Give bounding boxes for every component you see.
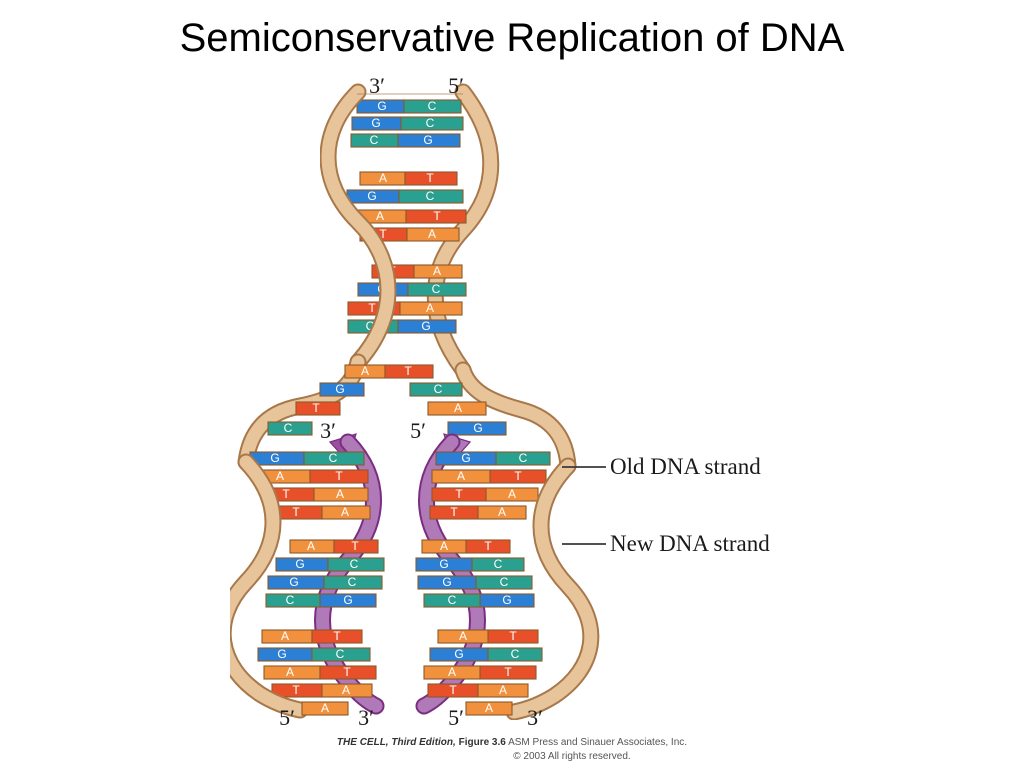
base-pair: AT [432,469,546,483]
base-pair: AT [422,539,510,553]
svg-text:G: G [343,593,352,607]
svg-text:G: G [423,133,432,147]
svg-text:G: G [421,319,430,333]
svg-text:T: T [282,487,290,501]
svg-text:G: G [335,382,344,396]
base-unpaired: C [268,421,312,435]
right-daughter-base-pairs: GC AT TA TA AT GC GC CG AT GC AT TA [416,451,550,697]
svg-text:A: A [321,701,329,715]
right-daughter-helix: GC AT TA TA AT GC GC CG AT GC AT TA [416,442,591,715]
label-left-daughter-5prime: 5′ [279,705,295,730]
svg-text:T: T [504,665,512,679]
svg-text:T: T [333,629,341,643]
svg-text:A: A [440,539,448,553]
svg-text:G: G [270,451,279,465]
svg-text:A: A [485,701,493,715]
base-pair: TA [428,683,528,697]
base-pair: GC [357,99,461,113]
svg-text:T: T [335,469,343,483]
credit-publisher: ASM Press and Sinauer Associates, Inc. [508,737,687,748]
svg-text:G: G [454,647,463,661]
base-pair: GC [276,557,384,571]
svg-text:A: A [376,209,384,223]
legend-leaders [562,467,606,544]
svg-text:T: T [514,469,522,483]
label-left-daughter-3prime: 3′ [358,705,374,730]
base-pair: AT [438,629,538,643]
svg-text:T: T [368,301,376,315]
svg-text:C: C [329,451,338,465]
base-pair: CG [266,593,376,607]
svg-text:A: A [428,227,436,241]
svg-text:C: C [448,593,457,607]
svg-text:C: C [370,133,379,147]
svg-text:C: C [286,593,295,607]
base-pair: TA [348,301,462,315]
dna-diagram-svg: GC GC CG AT GC AT TA TA GC TA CG [0,70,1024,730]
svg-text:A: A [307,539,315,553]
label-fork-right: 5′ [410,418,426,443]
svg-text:C: C [426,189,435,203]
credit-figure: Figure 3.6 [459,737,506,748]
svg-text:A: A [286,665,294,679]
svg-text:A: A [454,401,462,415]
svg-text:G: G [277,647,286,661]
base-pair: GC [352,116,463,130]
base-unpaired: A [428,401,486,415]
base-pair: AT [264,665,376,679]
credit-copyright: © 2003 All rights reserved. [0,750,1024,764]
legend-old-strand-label: Old DNA strand [610,454,761,479]
svg-text:G: G [439,557,448,571]
svg-text:T: T [292,683,300,697]
base-pair: A [466,701,512,715]
svg-text:T: T [450,505,458,519]
svg-text:A: A [426,301,434,315]
svg-text:A: A [508,487,516,501]
svg-text:C: C [348,575,357,589]
svg-text:G: G [289,575,298,589]
base-pair: GC [358,282,466,296]
label-fork-left: 3′ [320,418,336,443]
label-right-daughter-5prime: 5′ [448,705,464,730]
base-unpaired: G [448,421,506,435]
base-pair: AT [290,539,378,553]
label-parent-top-right: 5′ [448,73,464,98]
svg-text:T: T [426,171,434,185]
svg-text:T: T [351,539,359,553]
base-unpaired: G [320,382,364,396]
base-unpaired: T [296,401,340,415]
svg-text:G: G [442,575,451,589]
base-pair: A [302,701,348,715]
svg-text:G: G [461,451,470,465]
parent-helix: GC GC CG AT GC AT TA TA GC TA CG [328,92,491,370]
svg-text:A: A [498,505,506,519]
legend-new-strand-label: New DNA strand [610,531,770,556]
base-pair: GC [258,647,370,661]
svg-text:A: A [459,629,467,643]
svg-text:T: T [455,487,463,501]
svg-text:A: A [336,487,344,501]
base-unpaired: C [410,382,462,396]
svg-text:C: C [494,557,503,571]
svg-text:G: G [367,189,376,203]
svg-text:A: A [499,683,507,697]
credit-book: THE CELL, Third Edition, [337,737,456,748]
svg-text:T: T [484,539,492,553]
svg-text:T: T [292,505,300,519]
svg-text:A: A [281,629,289,643]
svg-text:T: T [509,629,517,643]
svg-text:C: C [432,282,441,296]
svg-text:C: C [434,382,443,396]
svg-text:T: T [343,665,351,679]
svg-text:C: C [511,647,520,661]
base-pair: GC [250,451,364,465]
base-pair: TA [272,683,372,697]
label-parent-top-left: 3′ [369,73,385,98]
svg-text:T: T [449,683,457,697]
svg-text:A: A [457,469,465,483]
svg-text:G: G [377,99,386,113]
svg-text:C: C [284,421,293,435]
svg-text:T: T [312,401,320,415]
svg-text:A: A [448,665,456,679]
svg-text:C: C [500,575,509,589]
svg-text:A: A [379,171,387,185]
label-right-daughter-3prime: 3′ [527,705,543,730]
dna-replication-figure: GC GC CG AT GC AT TA TA GC TA CG [0,70,1024,730]
base-pair: GC [436,451,550,465]
base-pair: GC [347,189,463,203]
figure-credit: THE CELL, Third Edition, Figure 3.6 ASM … [0,736,1024,763]
slide-canvas: Semiconservative Replication of DNA GC [0,0,1024,768]
svg-text:G: G [295,557,304,571]
base-pair: GC [416,557,524,571]
svg-text:C: C [519,451,528,465]
svg-text:T: T [404,364,412,378]
base-pair: CG [424,593,534,607]
base-pair: TA [430,505,526,519]
svg-text:C: C [350,557,359,571]
svg-text:A: A [342,683,350,697]
base-pair: GC [430,647,542,661]
svg-text:T: T [433,209,441,223]
base-pair: GC [268,575,382,589]
svg-text:C: C [428,99,437,113]
svg-text:A: A [276,469,284,483]
svg-text:A: A [433,264,441,278]
page-title: Semiconservative Replication of DNA [0,16,1024,61]
base-pair: CG [348,319,456,333]
svg-text:A: A [341,505,349,519]
parent-base-pairs: GC GC CG AT GC AT TA TA GC TA CG [347,99,466,333]
left-daughter-helix: GC AT TA TA AT GC GC CG AT GC AT TA [223,442,384,715]
base-pair: AT [254,469,368,483]
base-pair: TA [274,505,370,519]
base-pair: AT [360,171,457,185]
base-pair: GC [418,575,532,589]
svg-text:G: G [502,593,511,607]
base-pair: TA [432,487,538,501]
svg-text:C: C [336,647,345,661]
svg-text:C: C [426,116,435,130]
base-pair: AT [262,629,362,643]
svg-text:A: A [361,364,369,378]
base-pair: CG [351,133,460,147]
base-pair: AT [424,665,536,679]
svg-text:G: G [473,421,482,435]
svg-text:G: G [371,116,380,130]
base-pair: AT [345,364,433,378]
